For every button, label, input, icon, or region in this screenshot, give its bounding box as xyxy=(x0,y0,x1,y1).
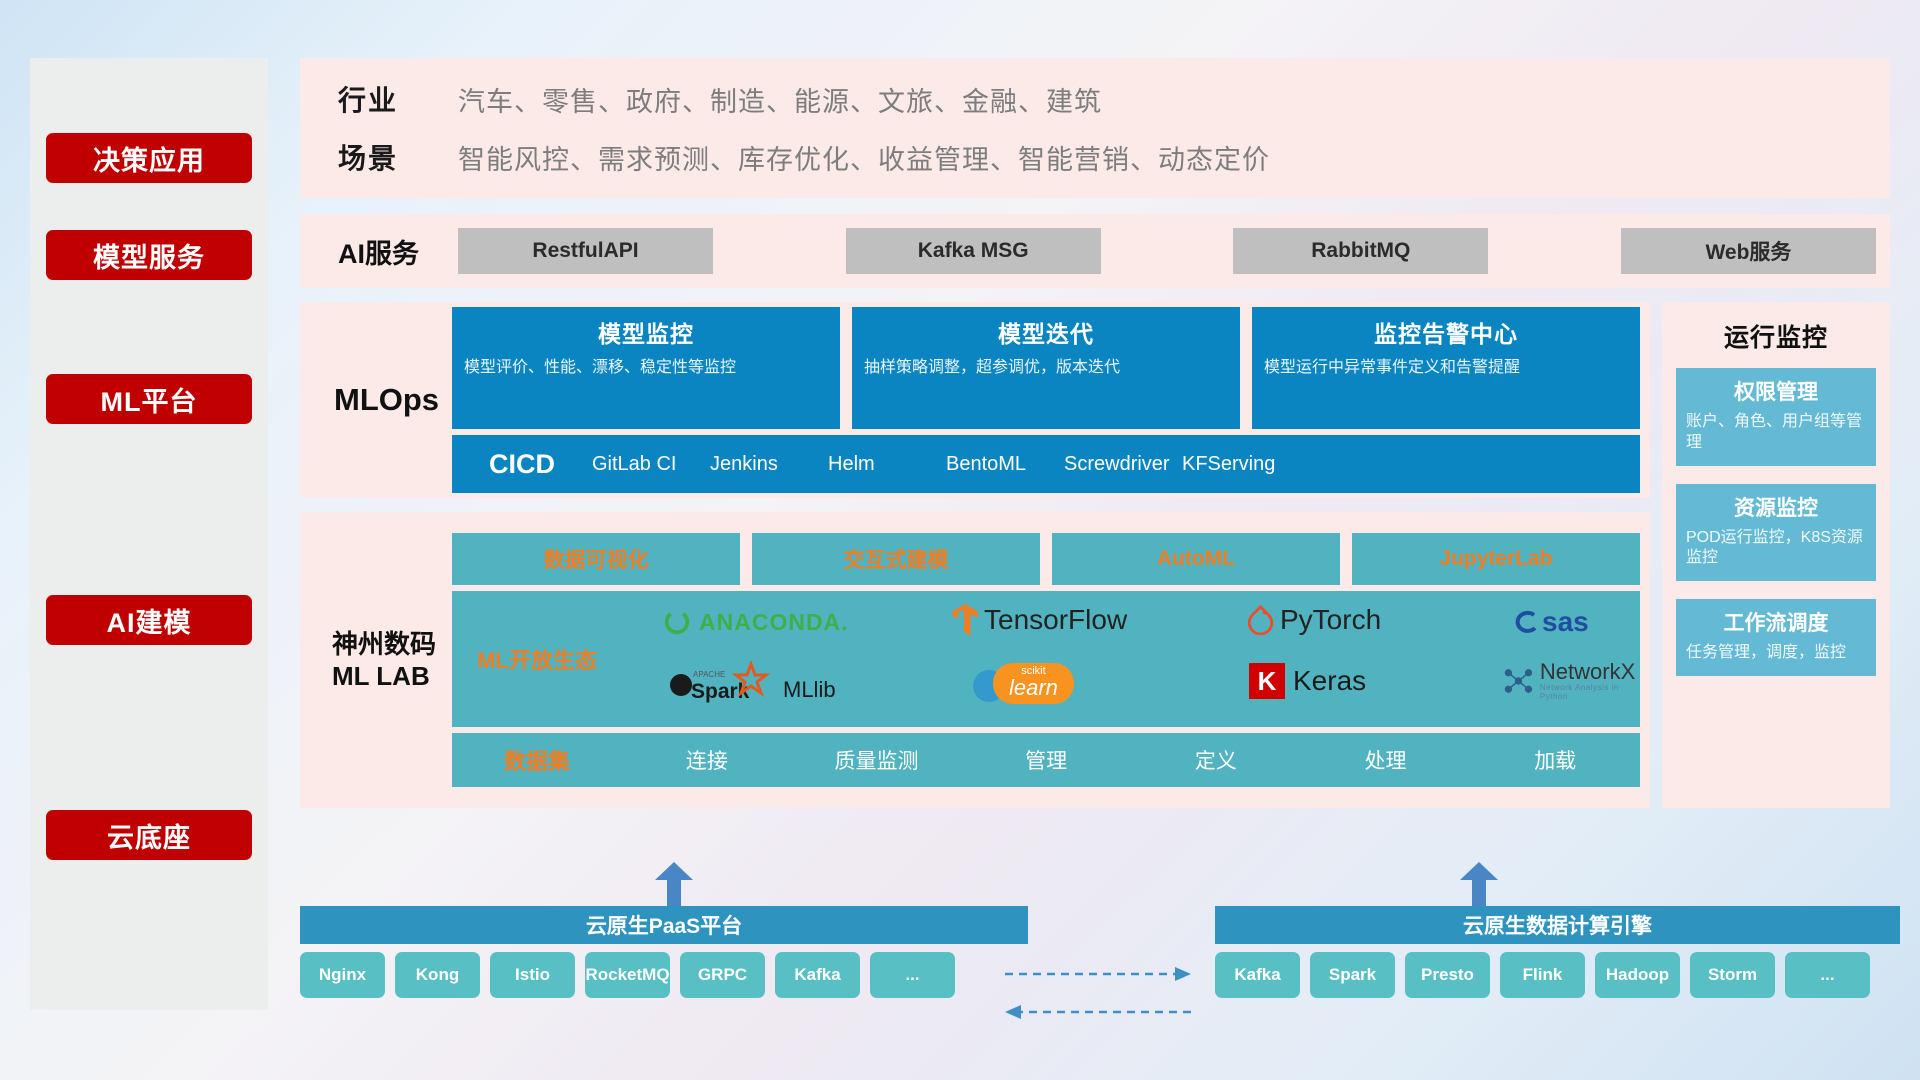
rail-label: 决策应用 xyxy=(93,139,205,178)
ai-service-box-restfulapi[interactable]: RestfulAPI xyxy=(458,228,713,274)
monitor-card-workflow[interactable]: 工作流调度 任务管理，调度，监控 xyxy=(1676,599,1876,676)
pytorch-label: PyTorch xyxy=(1280,604,1381,636)
paas-chip-grpc[interactable]: GRPC xyxy=(680,952,765,998)
svg-text:APACHE: APACHE xyxy=(693,670,725,679)
rail-label: AI建模 xyxy=(107,601,192,640)
industry-scenario-band: 行业 汽车、零售、政府、制造、能源、文旅、金融、建筑 场景 智能风控、需求预测、… xyxy=(300,58,1890,198)
networkx-tagline: Network Analysis in Python xyxy=(1540,683,1640,701)
rail-item-model-service[interactable]: 模型服务 xyxy=(46,230,252,280)
mlops-card-alert-center[interactable]: 监控告警中心 模型运行中异常事件定义和告警提醒 xyxy=(1252,307,1640,429)
engine-group: 云原生数据计算引擎 Kafka Spark Presto Flink Hadoo… xyxy=(1215,906,1900,998)
card-desc: POD运行监控，K8S资源监控 xyxy=(1686,528,1866,570)
tensorflow-logo: TensorFlow xyxy=(952,604,1127,636)
card-title: 工作流调度 xyxy=(1686,607,1866,637)
mlops-card-list: 模型监控 模型评价、性能、漂移、稳定性等监控 模型迭代 抽样策略调整，超参调优，… xyxy=(452,307,1640,429)
ml-lab-tab-jupyterlab[interactable]: JupyterLab xyxy=(1352,533,1640,585)
scikit-learn-label: learn xyxy=(1009,677,1058,699)
engine-chip-list: Kafka Spark Presto Flink Hadoop Storm ..… xyxy=(1215,952,1900,998)
sas-icon xyxy=(1512,608,1540,636)
monitor-card-permission[interactable]: 权限管理 账户、角色、用户组等管理 xyxy=(1676,368,1876,466)
pytorch-logo: PyTorch xyxy=(1247,604,1381,636)
cicd-item-helm[interactable]: Helm xyxy=(828,454,946,474)
rail-label: 模型服务 xyxy=(93,236,205,275)
ml-logo-wall: ANACONDA. TensorFlow xyxy=(622,591,1640,727)
engine-chip-kafka[interactable]: Kafka xyxy=(1215,952,1300,998)
dataset-title: 数据集 xyxy=(452,744,622,776)
dataset-item-connect[interactable]: 连接 xyxy=(622,745,792,775)
industry-key: 行业 xyxy=(338,79,458,119)
ai-service-box-rabbitmq[interactable]: RabbitMQ xyxy=(1233,228,1488,274)
engine-chip-hadoop[interactable]: Hadoop xyxy=(1595,952,1680,998)
tensorflow-label: TensorFlow xyxy=(984,604,1127,636)
ml-lab-band: 神州数码 ML LAB 数据可视化 交互式建模 AutoML JupyterLa… xyxy=(300,512,1650,808)
mlops-card-model-iteration[interactable]: 模型迭代 抽样策略调整，超参调优，版本迭代 xyxy=(852,307,1240,429)
card-desc: 任务管理，调度，监控 xyxy=(1686,643,1866,664)
keras-icon: K xyxy=(1249,663,1285,699)
cicd-title: CICD xyxy=(452,449,592,480)
card-title: 资源监控 xyxy=(1686,492,1866,522)
paas-header: 云原生PaaS平台 xyxy=(300,906,1028,944)
paas-chip-kong[interactable]: Kong xyxy=(395,952,480,998)
industry-row: 行业 汽车、零售、政府、制造、能源、文旅、金融、建筑 xyxy=(338,79,1890,119)
tensorflow-icon xyxy=(952,604,978,636)
dataset-item-load[interactable]: 加载 xyxy=(1470,745,1640,775)
anaconda-icon xyxy=(662,607,692,637)
industry-value: 汽车、零售、政府、制造、能源、文旅、金融、建筑 xyxy=(458,80,1102,119)
monitor-card-resource[interactable]: 资源监控 POD运行监控，K8S资源监控 xyxy=(1676,484,1876,582)
bidirectional-link-icon xyxy=(1005,960,1205,1040)
paas-group: 云原生PaaS平台 Nginx Kong Istio RocketMQ GRPC… xyxy=(300,906,1028,998)
mlops-label: MLOps xyxy=(322,382,452,418)
card-title: 模型迭代 xyxy=(864,315,1228,349)
sas-label: sas xyxy=(1542,606,1589,638)
ml-lab-tab-automl[interactable]: AutoML xyxy=(1052,533,1340,585)
dataset-item-list: 连接 质量监测 管理 定义 处理 加载 xyxy=(622,745,1640,775)
ai-service-box-list: RestfulAPI Kafka MSG RabbitMQ Web服务 xyxy=(458,228,1890,274)
dataset-item-quality[interactable]: 质量监测 xyxy=(792,745,962,775)
spark-icon: APACHE Spark xyxy=(667,661,777,705)
spark-mllib-logo: APACHE Spark MLlib xyxy=(667,661,836,705)
runtime-monitor-title: 运行监控 xyxy=(1676,318,1876,354)
ml-open-ecosystem-label: ML开放生态 xyxy=(452,643,622,675)
card-desc: 模型运行中异常事件定义和告警提醒 xyxy=(1264,357,1628,379)
rail-label: ML平台 xyxy=(101,380,198,419)
dataset-row: 数据集 连接 质量监测 管理 定义 处理 加载 xyxy=(452,733,1640,787)
scenario-value: 智能风控、需求预测、库存优化、收益管理、智能营销、动态定价 xyxy=(458,138,1270,177)
ml-lab-tab-interactive-modeling[interactable]: 交互式建模 xyxy=(752,533,1040,585)
ai-service-box-web[interactable]: Web服务 xyxy=(1621,228,1876,274)
card-title: 模型监控 xyxy=(464,315,828,349)
cicd-item-kfserving[interactable]: KFServing xyxy=(1182,454,1300,474)
rail-item-ml-platform[interactable]: ML平台 xyxy=(46,374,252,424)
ml-lab-label-line1: 神州数码 xyxy=(332,628,452,661)
mlops-and-monitor-row: MLOps 模型监控 模型评价、性能、漂移、稳定性等监控 模型迭代 抽样策略调整… xyxy=(300,302,1890,808)
paas-chip-list: Nginx Kong Istio RocketMQ GRPC Kafka ... xyxy=(300,952,1028,998)
scikit-learn-logo: scikit learn xyxy=(967,663,1074,704)
rail-item-ai-modeling[interactable]: AI建模 xyxy=(46,595,252,645)
cicd-item-jenkins[interactable]: Jenkins xyxy=(710,454,828,474)
paas-chip-kafka[interactable]: Kafka xyxy=(775,952,860,998)
ml-lab-label: 神州数码 ML LAB xyxy=(322,628,452,693)
networkx-logo: NetworkX Network Analysis in Python xyxy=(1502,661,1640,701)
keras-logo: K Keras xyxy=(1249,663,1366,699)
dataset-item-manage[interactable]: 管理 xyxy=(961,745,1131,775)
anaconda-label: ANACONDA. xyxy=(699,609,849,636)
ml-lab-tab-list: 数据可视化 交互式建模 AutoML JupyterLab xyxy=(452,533,1640,585)
dataset-item-define[interactable]: 定义 xyxy=(1131,745,1301,775)
rail-label: 云底座 xyxy=(107,816,191,855)
cicd-item-screwdriver[interactable]: Screwdriver xyxy=(1064,454,1182,474)
engine-chip-flink[interactable]: Flink xyxy=(1500,952,1585,998)
ml-open-ecosystem-row: ML开放生态 ANACONDA. xyxy=(452,591,1640,727)
cicd-item-list: GitLab CI Jenkins Helm BentoML Screwdriv… xyxy=(592,454,1640,474)
rail-item-cloud-base[interactable]: 云底座 xyxy=(46,810,252,860)
pytorch-icon xyxy=(1247,605,1274,635)
mllib-label: MLlib xyxy=(783,677,836,703)
scenario-row: 场景 智能风控、需求预测、库存优化、收益管理、智能营销、动态定价 xyxy=(338,137,1890,177)
keras-label: Keras xyxy=(1293,665,1366,697)
paas-chip-nginx[interactable]: Nginx xyxy=(300,952,385,998)
anaconda-logo: ANACONDA. xyxy=(662,607,849,637)
ai-service-box-kafka-msg[interactable]: Kafka MSG xyxy=(846,228,1101,274)
ai-service-label: AI服务 xyxy=(338,232,458,271)
rail-item-decision-app[interactable]: 决策应用 xyxy=(46,133,252,183)
paas-chip-more[interactable]: ... xyxy=(870,952,955,998)
scikit-learn-badge: scikit learn xyxy=(993,663,1074,704)
paas-chip-istio[interactable]: Istio xyxy=(490,952,575,998)
paas-chip-rocketmq[interactable]: RocketMQ xyxy=(585,952,670,998)
ml-lab-tab-data-visualization[interactable]: 数据可视化 xyxy=(452,533,740,585)
networkx-icon xyxy=(1502,663,1535,699)
card-desc: 账户、角色、用户组等管理 xyxy=(1686,412,1866,454)
engine-chip-more[interactable]: ... xyxy=(1785,952,1870,998)
card-desc: 抽样策略调整，超参调优，版本迭代 xyxy=(864,357,1228,379)
cicd-item-gitlab-ci[interactable]: GitLab CI xyxy=(592,454,710,474)
mlops-card-model-monitor[interactable]: 模型监控 模型评价、性能、漂移、稳定性等监控 xyxy=(452,307,840,429)
stack-layer-rail: 决策应用 模型服务 ML平台 AI建模 云底座 xyxy=(30,58,268,1010)
engine-chip-spark[interactable]: Spark xyxy=(1310,952,1395,998)
cicd-item-bentoml[interactable]: BentoML xyxy=(946,454,1064,474)
networkx-label: NetworkX xyxy=(1540,661,1640,683)
dataset-item-process[interactable]: 处理 xyxy=(1301,745,1471,775)
engine-chip-storm[interactable]: Storm xyxy=(1690,952,1775,998)
card-title: 权限管理 xyxy=(1686,376,1866,406)
mlops-band: MLOps 模型监控 模型评价、性能、漂移、稳定性等监控 模型迭代 抽样策略调整… xyxy=(300,302,1650,498)
ml-lab-label-line2: ML LAB xyxy=(332,660,452,693)
scenario-key: 场景 xyxy=(338,137,458,177)
cicd-bar: CICD GitLab CI Jenkins Helm BentoML Scre… xyxy=(452,435,1640,493)
runtime-monitor-panel: 运行监控 权限管理 账户、角色、用户组等管理 资源监控 POD运行监控，K8S资… xyxy=(1662,302,1890,808)
card-title: 监控告警中心 xyxy=(1264,315,1628,349)
engine-chip-presto[interactable]: Presto xyxy=(1405,952,1490,998)
engine-header: 云原生数据计算引擎 xyxy=(1215,906,1900,944)
ai-service-band: AI服务 RestfulAPI Kafka MSG RabbitMQ Web服务 xyxy=(300,214,1890,288)
sas-logo: sas xyxy=(1512,606,1589,638)
architecture-main: 行业 汽车、零售、政府、制造、能源、文旅、金融、建筑 场景 智能风控、需求预测、… xyxy=(300,58,1890,808)
card-desc: 模型评价、性能、漂移、稳定性等监控 xyxy=(464,357,828,379)
